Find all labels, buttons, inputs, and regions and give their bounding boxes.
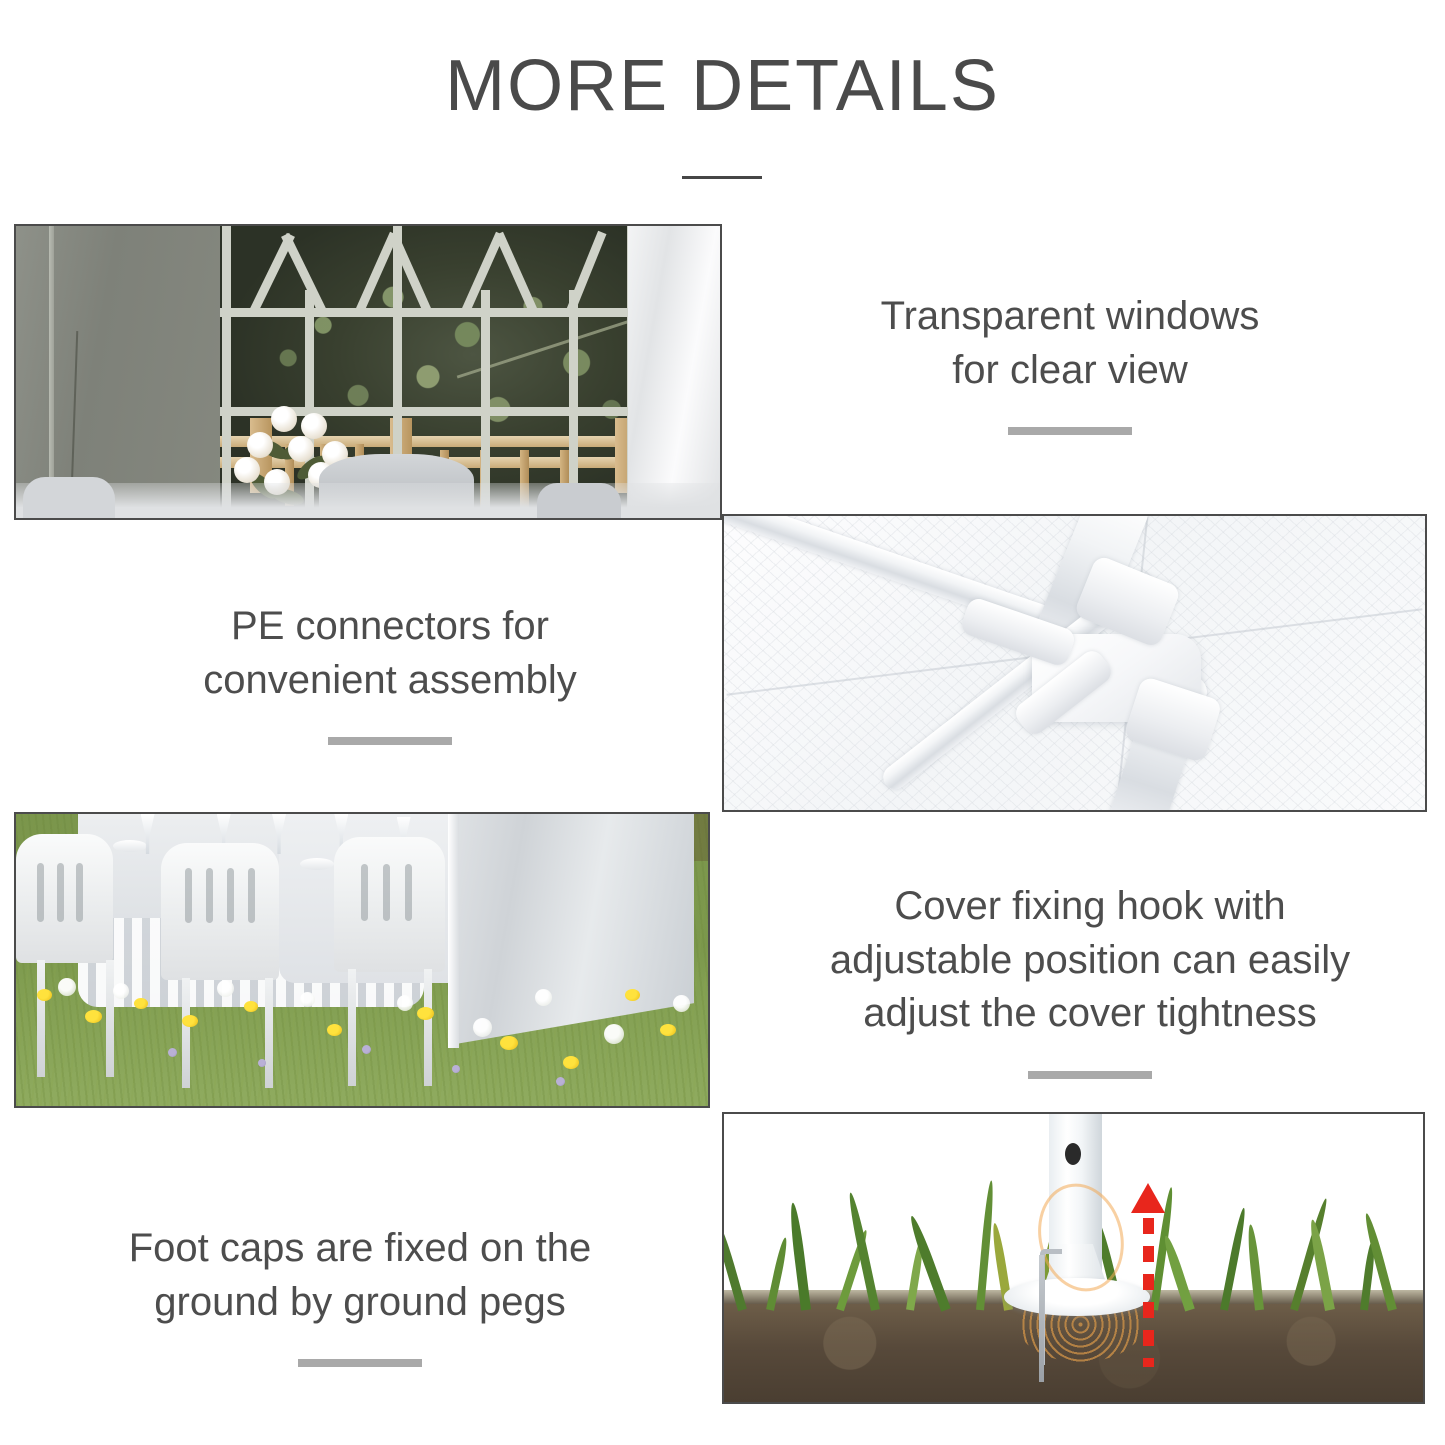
feature-caption-cover-fixing-hook: Cover fixing hook with adjustable positi…: [760, 880, 1420, 1079]
more-details-infographic: MORE DETAILS: [0, 0, 1445, 1445]
caption-text: Transparent windows for clear view: [760, 290, 1380, 397]
caption-underline-bar: [298, 1359, 422, 1367]
plastic-chair: [161, 843, 279, 980]
ground-anchor-scene: [724, 1114, 1423, 1402]
gazebo-curtain: [628, 226, 720, 518]
gazebo-side-wall: [16, 226, 220, 518]
feature-caption-pe-connectors: PE connectors for convenient assembly: [80, 600, 700, 745]
plastic-chair: [16, 834, 113, 962]
feature-image-foot-caps-ground-pegs: [722, 1112, 1425, 1404]
caption-text: Cover fixing hook with adjustable positi…: [760, 880, 1420, 1041]
caption-underline-bar: [328, 737, 452, 745]
gazebo-window-scene: [16, 226, 720, 518]
caption-text: Foot caps are fixed on the ground by gro…: [40, 1222, 680, 1329]
foreground-chair-left: [23, 477, 115, 518]
feature-image-transparent-windows: [14, 224, 722, 520]
place-setting: [300, 858, 334, 870]
gazebo-corner-pole: [448, 814, 459, 1048]
foreground-chair-right: [537, 483, 621, 518]
plastic-chair: [334, 837, 445, 971]
pole-pin-hole: [1065, 1143, 1081, 1165]
header: MORE DETAILS: [0, 0, 1445, 200]
direction-arrow-dashes-icon: [1143, 1218, 1154, 1368]
feature-image-pe-connectors: [722, 514, 1427, 812]
feature-image-cover-fixing-hook: [14, 812, 710, 1108]
title-divider: [682, 176, 762, 179]
page-title: MORE DETAILS: [0, 50, 1445, 122]
caption-underline-bar: [1008, 427, 1132, 435]
feature-caption-foot-caps-ground-pegs: Foot caps are fixed on the ground by gro…: [40, 1222, 680, 1367]
feature-caption-transparent-windows: Transparent windows for clear view: [760, 290, 1380, 435]
garden-party-scene: [16, 814, 708, 1106]
caption-text: PE connectors for convenient assembly: [80, 600, 700, 707]
direction-arrow-head-icon: [1131, 1183, 1165, 1213]
caption-underline-bar: [1028, 1071, 1152, 1079]
ground-peg-shaft: [1039, 1255, 1044, 1382]
pe-connector-scene: [724, 516, 1425, 810]
